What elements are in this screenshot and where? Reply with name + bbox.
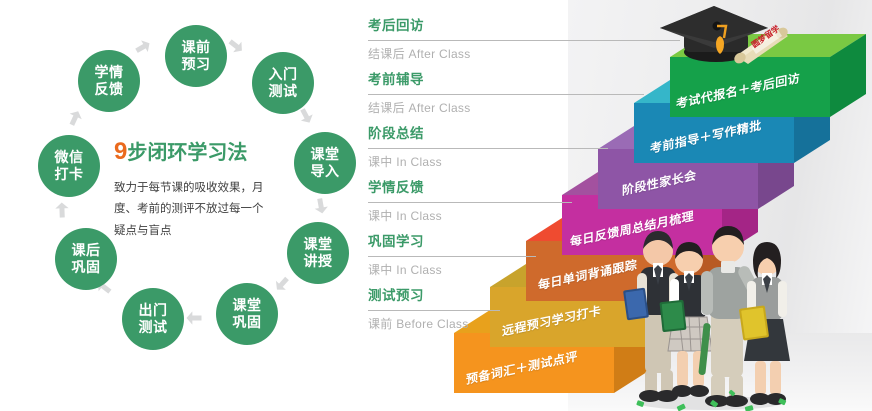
cycle-title-number: 9 (114, 138, 127, 165)
stair-title-4: 巩固学习 (368, 230, 424, 250)
stair-title-2: 阶段总结 (368, 122, 424, 142)
stair-sub-4: 课中 In Class (368, 261, 442, 278)
cycle-node-8-line2: 反馈 (95, 81, 124, 98)
infographic-root: 课前 预习 入门 测试 课堂 导入 课堂 讲授 课堂 巩固 出门 测试 课后 巩… (0, 0, 872, 411)
cycle-node-1-line2: 测试 (269, 83, 298, 100)
stair-title-5: 测试预习 (368, 284, 424, 304)
stair-title-3: 学情反馈 (368, 176, 424, 196)
diploma-scroll-icon: 圆梦留学 (728, 22, 792, 64)
arrow-icon (62, 105, 89, 132)
cycle-node-4-line2: 巩固 (233, 314, 262, 331)
staircase-diagram: 预备词汇＋测试点评 远程预习学习打卡 每日单词背诵跟踪 (360, 0, 872, 411)
cycle-node-4[interactable]: 课堂 巩固 (216, 283, 278, 345)
cycle-node-4-line1: 课堂 (233, 297, 262, 314)
cycle-title: 9步闭环学习法 (114, 140, 281, 164)
cycle-node-0[interactable]: 课前 预习 (165, 25, 227, 87)
arrow-icon (52, 200, 73, 221)
cycle-node-7[interactable]: 微信 打卡 (38, 135, 100, 197)
students-illustration (615, 215, 805, 411)
stair-sub-0: 结课后 After Class (368, 45, 471, 62)
arrow-icon (309, 194, 332, 217)
cycle-node-6-line2: 巩固 (72, 259, 101, 276)
arrow-icon (268, 270, 296, 298)
step-label-1: 考试代报名＋考后回访 (676, 68, 800, 111)
learning-cycle-diagram: 课前 预习 入门 测试 课堂 导入 课堂 讲授 课堂 巩固 出门 测试 课后 巩… (0, 0, 360, 411)
cycle-node-1-line1: 入门 (269, 66, 298, 83)
cycle-node-8[interactable]: 学情 反馈 (78, 50, 140, 112)
cycle-node-2-line1: 课堂 (311, 146, 340, 163)
cycle-node-3[interactable]: 课堂 讲授 (287, 222, 349, 284)
cycle-node-8-line1: 学情 (95, 64, 124, 81)
cycle-description: 致力于每节课的吸收效果，月度、考前的测评不放过每一个疑点与盲点 (114, 178, 274, 242)
cycle-node-5-line1: 出门 (139, 302, 168, 319)
stair-title-0: 考后回访 (368, 14, 424, 34)
cycle-node-7-line1: 微信 (55, 149, 84, 166)
cycle-node-7-line2: 打卡 (55, 166, 84, 183)
cycle-title-rest: 步闭环学习法 (127, 142, 247, 164)
cycle-center-text: 9步闭环学习法 致力于每节课的吸收效果，月度、考前的测评不放过每一个疑点与盲点 (106, 140, 281, 242)
stair-sub-2: 课中 In Class (368, 153, 442, 170)
cycle-node-5[interactable]: 出门 测试 (122, 288, 184, 350)
cycle-node-5-line2: 测试 (139, 319, 168, 336)
cycle-node-1[interactable]: 入门 测试 (252, 52, 314, 114)
cycle-node-0-line1: 课前 (182, 39, 211, 56)
cycle-node-6-line1: 课后 (72, 242, 101, 259)
cycle-node-3-line1: 课堂 (304, 236, 333, 253)
cycle-node-2[interactable]: 课堂 导入 (294, 132, 356, 194)
step-front-1: 考试代报名＋考后回访 (676, 69, 831, 111)
cycle-node-2-line2: 导入 (311, 163, 340, 180)
cycle-node-3-line2: 讲授 (304, 253, 333, 270)
arrow-icon (129, 33, 156, 60)
stair-title-1: 考前辅导 (368, 68, 424, 88)
stair-sub-3: 课中 In Class (368, 207, 442, 224)
arrow-icon (184, 308, 204, 328)
cycle-node-0-line2: 预习 (182, 56, 211, 73)
step-label-3: 阶段性家长会 (622, 166, 696, 199)
stair-sub-1: 结课后 After Class (368, 99, 471, 116)
